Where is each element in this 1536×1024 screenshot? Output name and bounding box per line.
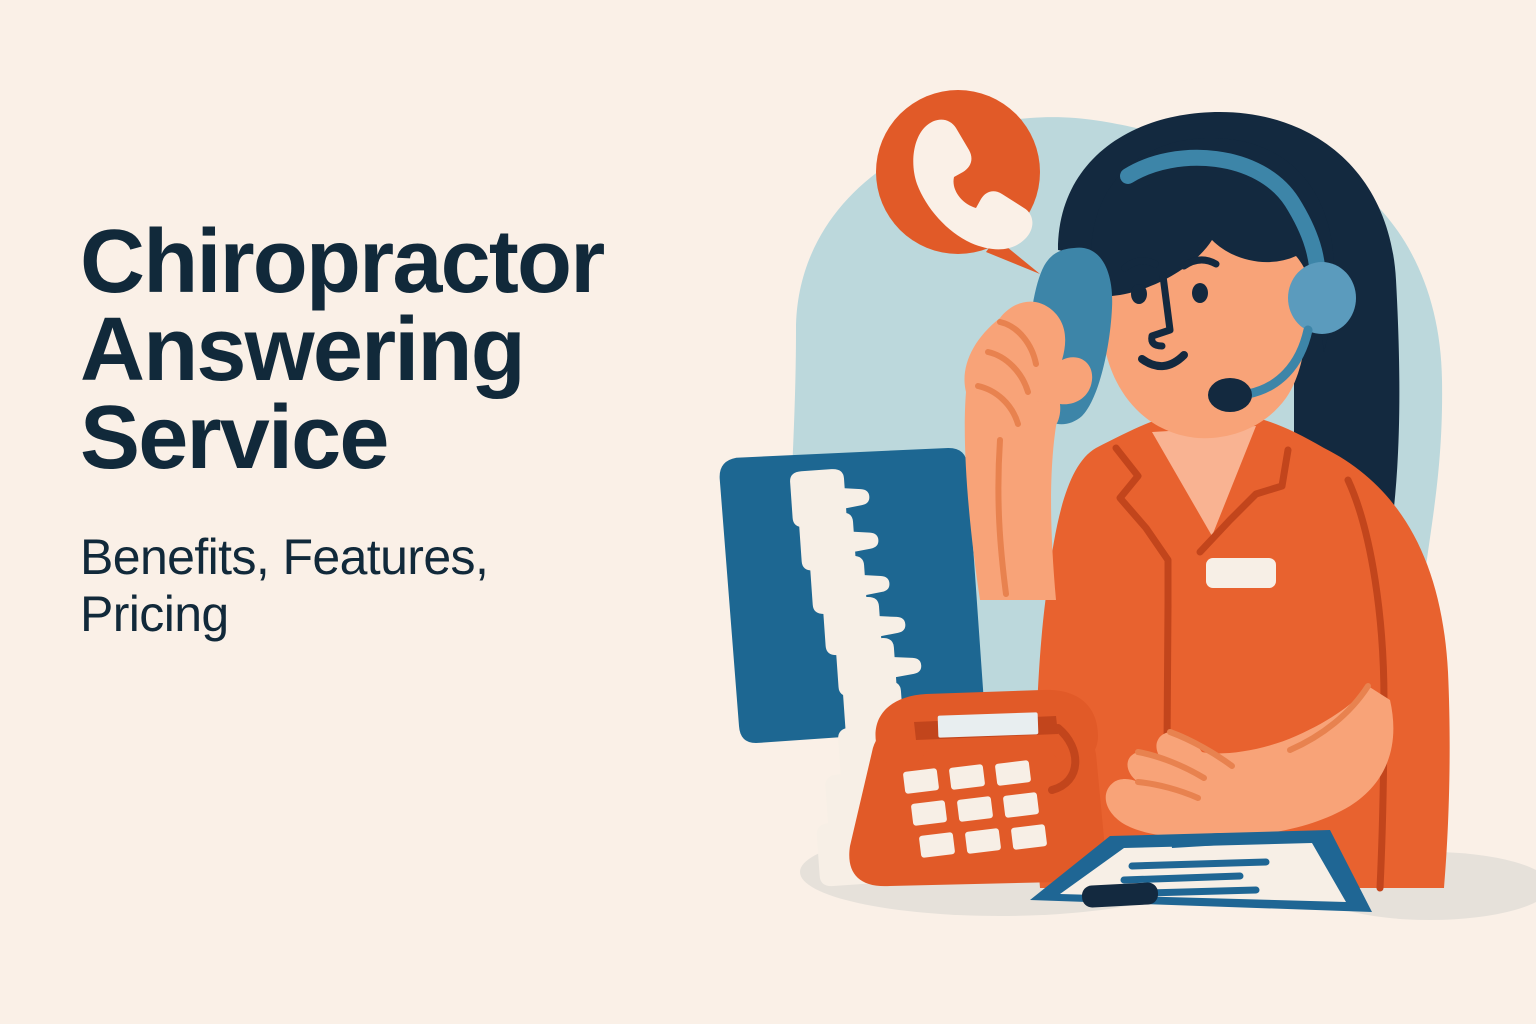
- desk-phone-keypad[interactable]: [903, 760, 1047, 858]
- hero-text-column: Chiropractor Answering Service Benefits,…: [80, 218, 770, 643]
- headset-mic: [1208, 378, 1252, 412]
- clipboard-signature-block: [1081, 882, 1158, 908]
- headset-earcup-right: [1288, 262, 1356, 334]
- hero-banner: Chiropractor Answering Service Benefits,…: [0, 0, 1536, 1024]
- hero-illustration: [700, 0, 1536, 1024]
- name-badge: [1206, 558, 1276, 588]
- desk-phone-cradle-highlight: [938, 712, 1039, 737]
- desk-phone[interactable]: [849, 690, 1104, 886]
- page-title: Chiropractor Answering Service: [80, 218, 770, 483]
- page-subtitle: Benefits, Features, Pricing: [80, 529, 770, 643]
